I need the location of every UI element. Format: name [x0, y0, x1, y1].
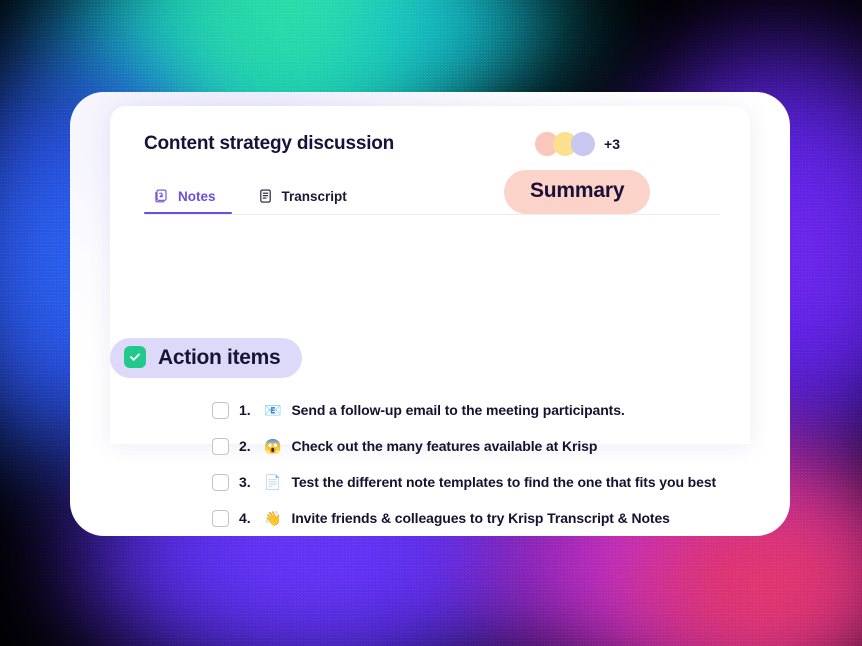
list-item[interactable]: 2. 😱 Check out the many features availab…	[212, 428, 790, 464]
screaming-face-emoji: 😱	[264, 439, 281, 453]
item-checkbox[interactable]	[212, 402, 229, 419]
list-item[interactable]: 3. 📄 Test the different note templates t…	[212, 464, 790, 500]
avatar[interactable]	[571, 132, 595, 156]
list-item[interactable]: 4. 👋 Invite friends & colleagues to try …	[212, 500, 790, 536]
item-number: 3.	[239, 474, 254, 490]
list-item[interactable]: 1. 📧 Send a follow-up email to the meeti…	[212, 392, 790, 428]
waving-hand-emoji: 👋	[264, 511, 281, 525]
action-items-badge[interactable]: Action items	[110, 338, 302, 378]
avatar-stack[interactable]	[535, 132, 595, 156]
page-title: Content strategy discussion	[144, 133, 394, 155]
participants-group: +3	[535, 132, 620, 156]
email-emoji: 📧	[264, 403, 281, 417]
tab-notes-label: Notes	[178, 189, 216, 204]
item-number: 1.	[239, 402, 254, 418]
action-items-list: 1. 📧 Send a follow-up email to the meeti…	[212, 392, 790, 536]
transcript-document-icon	[258, 188, 273, 204]
tab-transcript[interactable]: Transcript	[248, 184, 365, 214]
item-number: 2.	[239, 438, 254, 454]
page-document-emoji: 📄	[264, 475, 281, 489]
item-number: 4.	[239, 510, 254, 526]
item-checkbox[interactable]	[212, 510, 229, 527]
note-header: Content strategy discussion +3	[110, 106, 750, 215]
item-checkbox[interactable]	[212, 474, 229, 491]
action-items-label: Action items	[158, 347, 280, 368]
summary-badge[interactable]: Summary	[504, 170, 650, 214]
participants-more-count[interactable]: +3	[604, 136, 620, 152]
tabs-divider	[144, 214, 720, 215]
item-text: Check out the many features available at…	[291, 438, 597, 454]
item-text: Invite friends & colleagues to try Krisp…	[291, 510, 669, 526]
item-text: Test the different note templates to fin…	[291, 474, 716, 490]
app-screenshot: Content strategy discussion +3	[0, 0, 862, 646]
item-text: Send a follow-up email to the meeting pa…	[291, 402, 624, 418]
tab-notes[interactable]: Notes	[144, 184, 234, 214]
tab-transcript-label: Transcript	[282, 189, 347, 204]
sticky-note-icon	[154, 188, 169, 204]
item-checkbox[interactable]	[212, 438, 229, 455]
note-header-row: Content strategy discussion +3	[144, 132, 720, 156]
checked-checkbox-icon	[124, 346, 146, 368]
